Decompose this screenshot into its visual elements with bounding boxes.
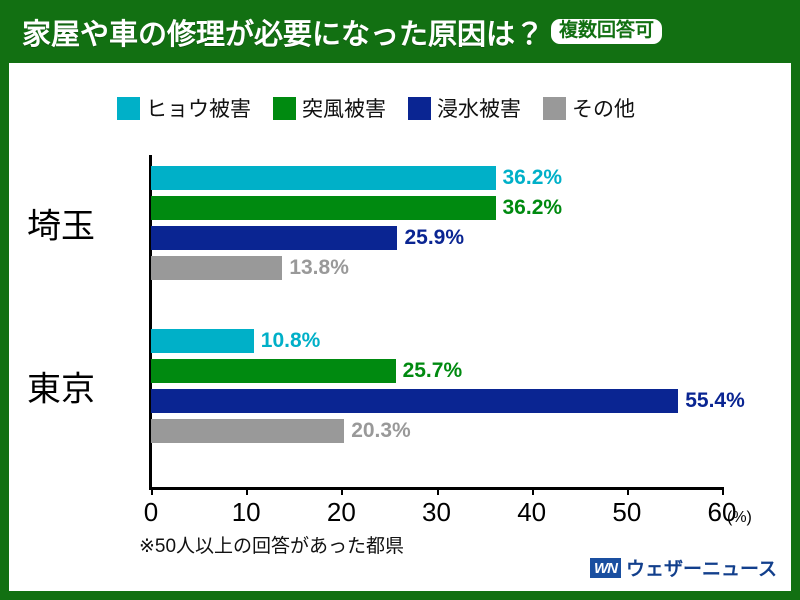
- category-label-0: 埼玉: [27, 199, 95, 248]
- x-tick-label: 10: [232, 497, 261, 528]
- x-tick-mark: [246, 487, 248, 495]
- x-axis-unit-label: (%): [727, 509, 752, 527]
- bar-東京-浸水被害: [151, 389, 678, 413]
- bar-埼玉-ヒョウ被害: [151, 166, 496, 190]
- x-tick-mark: [627, 487, 629, 495]
- chart-panel: ヒョウ被害突風被害浸水被害その他 0102030405060 (%) 埼玉東京 …: [9, 63, 791, 591]
- header-band: 家屋や車の修理が必要になった原因は？ 複数回答可: [0, 0, 800, 63]
- bar-value-label: 25.9%: [404, 226, 464, 250]
- x-tick-mark: [532, 487, 534, 495]
- bar-東京-突風被害: [151, 359, 396, 383]
- weathernews-logo: WN ウェザーニュース: [590, 554, 777, 581]
- infographic-root: 家屋や車の修理が必要になった原因は？ 複数回答可 ヒョウ被害突風被害浸水被害その…: [0, 0, 800, 600]
- x-tick-label: 40: [517, 497, 546, 528]
- bar-value-label: 25.7%: [403, 359, 463, 383]
- bar-value-label: 20.3%: [351, 419, 411, 443]
- bar-埼玉-その他: [151, 256, 282, 280]
- bar-value-label: 10.8%: [261, 329, 321, 353]
- x-tick-label: 20: [327, 497, 356, 528]
- bar-value-label: 55.4%: [685, 389, 745, 413]
- x-axis-line: [149, 487, 722, 490]
- multiple-answers-badge: 複数回答可: [551, 19, 662, 44]
- x-tick-label: 0: [144, 497, 158, 528]
- x-tick-mark: [341, 487, 343, 495]
- x-tick-label: 30: [422, 497, 451, 528]
- x-tick-mark: [722, 487, 724, 495]
- bar-value-label: 36.2%: [503, 196, 563, 220]
- category-label-1: 東京: [27, 362, 95, 411]
- plot-area: 0102030405060 (%) 埼玉東京 36.2%36.2%25.9%13…: [9, 63, 791, 591]
- bar-埼玉-浸水被害: [151, 226, 397, 250]
- x-tick-mark: [151, 487, 153, 495]
- logo-text: ウェザーニュース: [626, 554, 777, 581]
- page-title: 家屋や車の修理が必要になった原因は？: [22, 11, 544, 53]
- bar-value-label: 13.8%: [289, 256, 349, 280]
- logo-mark: WN: [590, 558, 621, 578]
- x-tick-label: 50: [612, 497, 641, 528]
- bar-東京-ヒョウ被害: [151, 329, 254, 353]
- x-tick-mark: [437, 487, 439, 495]
- footnote: ※50人以上の回答があった都県: [139, 531, 404, 558]
- bar-埼玉-突風被害: [151, 196, 496, 220]
- bar-東京-その他: [151, 419, 344, 443]
- bar-value-label: 36.2%: [503, 166, 563, 190]
